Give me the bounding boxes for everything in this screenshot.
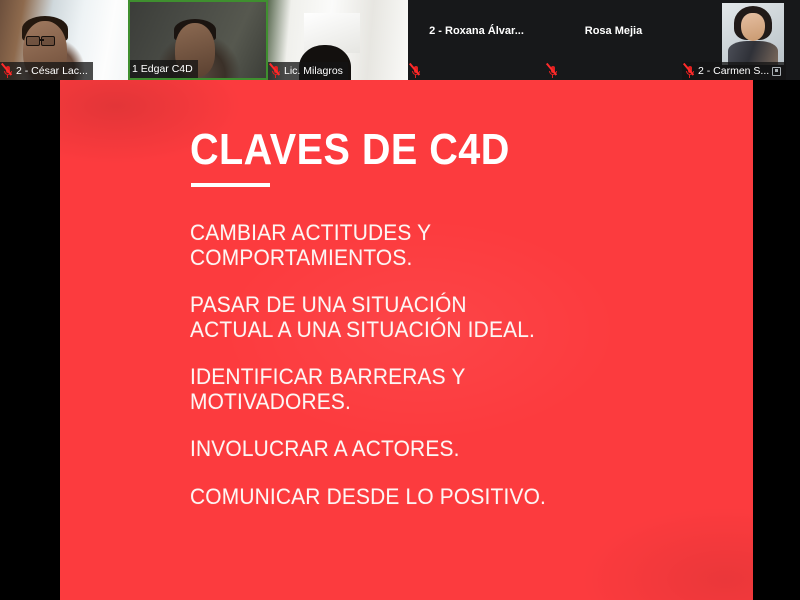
- mic-muted-icon: [684, 65, 695, 78]
- slide-bullet-3: IDENTIFICAR BARRERAS Y MOTIVADORES.: [190, 364, 694, 414]
- meeting-screen: 2 - César Lac... 1 Edgar C4D Li: [0, 0, 800, 600]
- bullet-line: IDENTIFICAR BARRERAS Y: [190, 364, 694, 389]
- avatar-head: [741, 13, 765, 41]
- slide-bullet-4: INVOLUCRAR A ACTORES.: [190, 436, 694, 461]
- slide-bullet-1: CAMBIAR ACTITUDES Y COMPORTAMIENTOS.: [190, 220, 694, 270]
- glasses-right-lens: [41, 36, 55, 46]
- bullet-line: INVOLUCRAR A ACTORES.: [190, 436, 694, 461]
- bullet-line: COMPORTAMIENTOS.: [190, 245, 694, 270]
- glasses-bridge: [39, 39, 44, 41]
- participant-tile-milagros[interactable]: Lic. Milagros: [268, 0, 408, 80]
- title-underline-rule: [191, 183, 270, 187]
- bullet-line: MOTIVADORES.: [190, 389, 694, 414]
- nameplate-cesar: 2 - César Lac...: [0, 62, 93, 80]
- mic-muted-icon: [547, 65, 558, 78]
- participant-name: 2 - Carmen S...: [698, 66, 769, 77]
- glasses-left-lens: [26, 36, 40, 46]
- participant-tile-roxana[interactable]: 2 - Roxana Álvar...: [408, 0, 545, 80]
- bullet-line: PASAR DE UNA SITUACIÓN: [190, 292, 694, 317]
- participant-name: Lic. Milagros: [284, 66, 343, 77]
- mic-muted-icon: [410, 65, 421, 78]
- slide-bullet-2: PASAR DE UNA SITUACIÓN ACTUAL A UNA SITU…: [190, 292, 694, 342]
- mic-muted-icon: [270, 65, 281, 78]
- slide-bullet-list: CAMBIAR ACTITUDES Y COMPORTAMIENTOS. PAS…: [190, 220, 720, 509]
- participant-filmstrip: 2 - César Lac... 1 Edgar C4D Li: [0, 0, 800, 80]
- participant-tile-edgar[interactable]: 1 Edgar C4D: [128, 0, 268, 80]
- nameplate-edgar: 1 Edgar C4D: [130, 60, 198, 78]
- participant-name-centered: Rosa Mejia: [545, 0, 682, 62]
- nameplate-carmen: 2 - Carmen S...: [682, 62, 786, 80]
- mic-muted-icon: [2, 65, 13, 78]
- bullet-line: ACTUAL A UNA SITUACIÓN IDEAL.: [190, 317, 694, 342]
- participant-tile-cesar[interactable]: 2 - César Lac...: [0, 0, 128, 80]
- camera-off-icon: [772, 67, 781, 76]
- participant-name: 2 - César Lac...: [16, 66, 88, 77]
- shared-screen-stage: CLAVES DE C4D CAMBIAR ACTITUDES Y COMPOR…: [0, 80, 800, 600]
- presentation-slide: CLAVES DE C4D CAMBIAR ACTITUDES Y COMPOR…: [60, 80, 753, 600]
- nameplate-milagros: Lic. Milagros: [268, 62, 348, 80]
- video-inset: [722, 3, 784, 65]
- participant-name-centered: 2 - Roxana Álvar...: [408, 0, 545, 62]
- slide-title: CLAVES DE C4D: [190, 128, 510, 172]
- nameplate-roxana: [408, 62, 426, 80]
- nameplate-rosa: [545, 62, 563, 80]
- bullet-line: CAMBIAR ACTITUDES Y: [190, 220, 694, 245]
- bullet-line: COMUNICAR DESDE LO POSITIVO.: [190, 484, 694, 509]
- participant-tile-rosa[interactable]: Rosa Mejia: [545, 0, 682, 80]
- slide-bullet-5: COMUNICAR DESDE LO POSITIVO.: [190, 484, 694, 509]
- participant-name: 1 Edgar C4D: [132, 64, 193, 75]
- participant-tile-carmen[interactable]: 2 - Carmen S...: [682, 0, 800, 80]
